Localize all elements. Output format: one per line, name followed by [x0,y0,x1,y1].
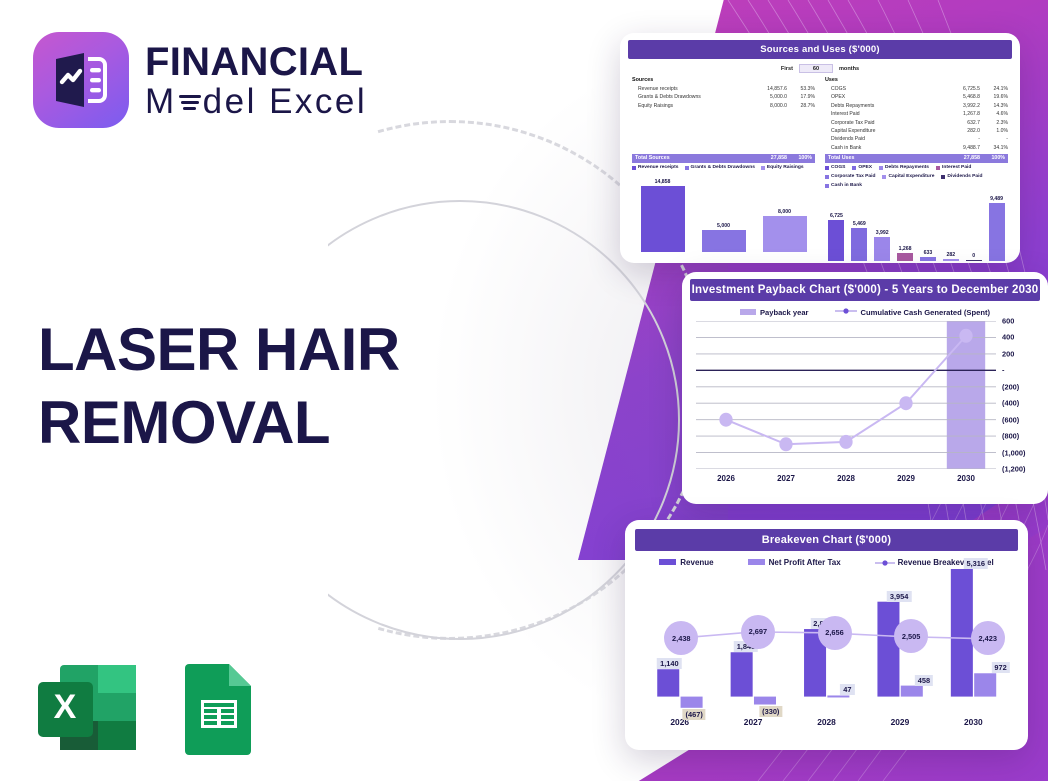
bar-rect [763,216,807,252]
uses-legend-label: Debts Repayments [885,165,929,170]
bar-item: 3,992 [874,191,890,261]
uses-row: Dividends Paid-- [825,135,1008,143]
microsoft-excel-icon[interactable]: X [33,660,143,755]
sources-legend-label: Equity Raisings [767,165,804,170]
payback-x-axis-labels: 20262027202820292030 [696,474,996,483]
bar-value-label: 6,725 [830,213,843,219]
uses-legend-swatch-icon [825,175,829,179]
revenue-value-tag: 5,316 [964,558,989,569]
breakeven-x-tick: 2027 [716,717,789,727]
npat-value-tag: (330) [759,706,782,717]
bar-value-label: 5,469 [853,221,866,227]
uses-legend-swatch-icon [879,166,883,170]
payback-x-tick: 2030 [936,474,996,483]
poster-canvas: FINANCIAL M del Excel LASER HAIR REMOVAL… [0,0,1048,781]
uses-legend-item: Cash in Bank [825,183,862,188]
payback-year-band [947,321,985,469]
sources-legend-label: Grants & Debts Drawdowns [691,165,755,170]
first-label: First [781,66,793,72]
breakeven-x-tick: 2030 [937,717,1010,727]
investment-payback-panel: Investment Payback Chart ($'000) - 5 Yea… [682,272,1048,504]
payback-line [726,336,966,445]
sources-row-value: 8,000.0 [747,102,787,110]
uses-row-label: Capital Expenditure [825,127,940,135]
bar-value-label: 3,992 [876,230,889,236]
brand-title: FINANCIAL [145,42,367,82]
app-icons-group: X [33,660,257,755]
sources-legend-item: Grants & Debts Drawdowns [685,165,755,170]
uses-row-label: Interest Paid [825,110,940,118]
uses-legend-item: Interest Paid [936,165,971,170]
breakeven-value-bubble: 2,697 [741,615,775,649]
uses-legend-label: Interest Paid [942,165,971,170]
uses-legend-label: COGS [831,165,845,170]
total-sources-pct: 100% [787,154,815,163]
uses-row-pct: 4.6% [980,110,1008,118]
sources-legend-swatch-icon [761,166,765,170]
bar-item: 633 [920,191,936,261]
brand-subtitle-post: del Excel [203,84,368,119]
payback-y-tick: (1,200) [1002,465,1025,474]
bar-rect [874,237,890,261]
uses-row-label: Cash in Bank [825,144,940,152]
total-uses-row: Total Uses 27,858 100% [825,154,1008,163]
sources-uses-table: Sources Revenue receipts14,857.653.3%Gra… [628,77,1012,163]
uses-row: Capital Expenditure282.01.0% [825,127,1008,135]
brand-subtitle: M del Excel [145,84,367,119]
uses-row-pct: 34.1% [980,144,1008,152]
payback-y-tick: 200 [1002,349,1014,358]
uses-header: Uses [825,77,1008,83]
revenue-bar [877,602,899,697]
bar-rect [920,257,936,261]
uses-row: Corporate Tax Paid632.72.3% [825,119,1008,127]
uses-row-value: 1,267.8 [940,110,980,118]
bar-rect [702,230,746,252]
brand-wordmark: FINANCIAL M del Excel [145,42,367,119]
breakeven-panel: Breakeven Chart ($'000) RevenueNet Profi… [625,520,1028,750]
page-title-line-2: REMOVAL [38,386,400,459]
sources-legend-item: Revenue receipts [632,165,679,170]
npat-value-tag: 972 [991,662,1009,673]
bar-value-label: 1,268 [899,246,912,252]
payback-chart-svg [696,321,996,469]
breakeven-value-bubble: 2,505 [894,619,928,653]
revenue-bar [731,652,753,696]
breakeven-legend-swatch-icon [659,559,676,565]
google-sheets-icon[interactable] [181,660,257,755]
months-label: months [839,66,859,72]
payback-plot-area: 600400200-(200)(400)(600)(800)(1,000)(1,… [696,321,996,469]
brand-lockup: FINANCIAL M del Excel [33,32,367,128]
sources-uses-charts: Revenue receiptsGrants & Debts Drawdowns… [628,163,1012,261]
bar-item: 6,725 [828,191,844,261]
payback-title: Investment Payback Chart ($'000) - 5 Yea… [690,279,1040,301]
payback-data-point [719,413,732,427]
sources-header: Sources [632,77,815,83]
uses-row: Debts Repayments3,992.214.3% [825,102,1008,110]
page-title: LASER HAIR REMOVAL [38,313,400,459]
sources-bars: 14,8585,0008,000 [632,174,815,252]
uses-legend: COGSOPEXDebts RepaymentsInterest PaidCor… [825,165,1008,188]
bar-rect [989,203,1005,261]
sources-row-value: 5,000.0 [747,93,787,101]
uses-row-value: 282.0 [940,127,980,135]
payback-y-tick: (600) [1002,415,1019,424]
uses-row: OPEX5,468.819.6% [825,93,1008,101]
uses-row-label: COGS [825,85,940,93]
bar-value-label: 14,858 [655,179,671,185]
logo-glyph-icon [50,49,112,111]
brand-subtitle-pre: M [145,84,177,119]
bar-value-label: 282 [946,252,955,258]
uses-bars: 6,7255,4693,9921,26863328209,489 [825,191,1008,261]
payback-x-tick: 2029 [876,474,936,483]
breakeven-x-tick: 2029 [863,717,936,727]
uses-row-value: 5,468.8 [940,93,980,101]
payback-y-tick: - [1002,366,1004,375]
legend-cumulative-cash: Cumulative Cash Generated (Spent) [835,307,991,317]
uses-row-pct: 1.0% [980,127,1008,135]
npat-bar [974,673,996,696]
revenue-bar [657,669,679,696]
sources-and-uses-panel: Sources and Uses ($'000) First 60 months… [620,33,1020,263]
revenue-bar [951,569,973,697]
svg-text:X: X [54,688,77,726]
payback-x-tick: 2028 [816,474,876,483]
uses-bar-chart: COGSOPEXDebts RepaymentsInterest PaidCor… [825,165,1008,261]
bar-item: 14,858 [641,174,685,252]
total-sources-row: Total Sources 27,858 100% [632,154,815,163]
uses-row-pct: 2.3% [980,119,1008,127]
payback-data-point [899,396,912,410]
uses-row-pct: 14.3% [980,102,1008,110]
npat-bar [754,697,776,705]
uses-legend-label: OPEX [858,165,872,170]
breakeven-line-marker-icon [875,558,898,567]
bar-value-label: 8,000 [778,209,791,215]
sources-column: Sources Revenue receipts14,857.653.3%Gra… [632,77,815,163]
payback-x-tick: 2026 [696,474,756,483]
bar-item: 0 [966,191,982,261]
bar-rect [641,186,685,252]
uses-legend-item: Dividends Paid [941,174,982,179]
uses-legend-swatch-icon [882,175,886,179]
npat-bar [827,695,849,697]
sources-row-label: Revenue receipts [632,85,747,93]
sources-row: Equity Raisings8,000.028.7% [632,102,815,110]
payback-year-swatch-icon [740,309,756,315]
uses-legend-swatch-icon [825,166,829,170]
sources-row-label: Grants & Debts Drawdowns [632,93,747,101]
npat-value-tag: (467) [683,709,706,720]
breakeven-value-bubble: 2,656 [818,616,852,650]
sources-row-label: Equity Raisings [632,102,747,110]
npat-bar [901,686,923,697]
uses-row-value: 6,725.5 [940,85,980,93]
bar-item: 8,000 [763,174,807,252]
payback-y-tick: (400) [1002,399,1019,408]
bar-value-label: 0 [972,253,975,259]
bar-rect [828,220,844,261]
cumulative-line-marker-icon [835,307,857,315]
uses-row-value: 632.7 [940,119,980,127]
breakeven-legend-swatch-icon [748,559,765,565]
uses-legend-swatch-icon [825,184,829,188]
uses-row-value: - [940,135,980,143]
breakeven-legend-item: Net Profit After Tax [748,558,841,567]
months-input[interactable]: 60 [799,64,833,73]
uses-legend-item: Capital Expenditure [882,174,934,179]
bar-item: 9,489 [989,191,1005,261]
uses-row: COGS6,725.524.1% [825,85,1008,93]
legend-payback-year: Payback year [740,308,809,317]
uses-row: Interest Paid1,267.84.6% [825,110,1008,118]
uses-legend-item: Debts Repayments [879,165,929,170]
sources-row: Grants & Debts Drawdowns5,000.017.9% [632,93,815,101]
revenue-value-tag: 3,954 [887,591,912,602]
bar-rect [897,253,913,261]
breakeven-value-bubble: 2,423 [971,621,1005,655]
npat-value-tag: 458 [915,675,933,686]
uses-row-value: 9,488.7 [940,144,980,152]
bar-rect [851,228,867,261]
sources-row-pct: 28.7% [787,102,815,110]
payback-y-tick: 600 [1002,317,1014,326]
uses-legend-label: Capital Expenditure [888,174,934,179]
uses-legend-label: Dividends Paid [947,174,982,179]
brand-logo-icon [33,32,129,128]
first-months-control: First 60 months [628,64,1012,73]
payback-y-tick: (800) [1002,432,1019,441]
sources-legend-label: Revenue receipts [638,165,679,170]
uses-row-label: Corporate Tax Paid [825,119,940,127]
uses-row-pct: 19.6% [980,93,1008,101]
payback-y-tick: 400 [1002,333,1014,342]
breakeven-title: Breakeven Chart ($'000) [635,529,1018,551]
uses-row-pct: 24.1% [980,85,1008,93]
sources-legend-item: Equity Raisings [761,165,804,170]
uses-column: Uses COGS6,725.524.1%OPEX5,468.819.6%Deb… [825,77,1008,163]
uses-legend-item: COGS [825,165,845,170]
breakeven-plot-area: 1,140(467)2,4381,848(330)2,6972,814472,6… [643,569,1010,711]
bar-rect [943,259,959,261]
bar-rect [966,260,982,261]
brand-o-glyph-icon [177,84,203,118]
breakeven-legend-label: Net Profit After Tax [769,558,841,567]
npat-bar [681,697,703,708]
payback-y-tick: (1,000) [1002,448,1025,457]
breakeven-legend-label: Revenue [680,558,713,567]
total-uses-pct: 100% [980,154,1008,163]
uses-row: Cash in Bank9,488.734.1% [825,144,1008,152]
bar-item: 282 [943,191,959,261]
uses-legend-swatch-icon [941,175,945,179]
sources-and-uses-title: Sources and Uses ($'000) [628,40,1012,59]
breakeven-value-bubble: 2,438 [664,621,698,655]
uses-legend-item: OPEX [852,165,872,170]
payback-data-point [839,435,852,449]
sources-row-pct: 17.9% [787,93,815,101]
payback-y-tick: (200) [1002,382,1019,391]
breakeven-legend: RevenueNet Profit After TaxRevenue Break… [635,558,1018,567]
total-uses-label: Total Uses [825,154,940,163]
uses-legend-label: Corporate Tax Paid [831,174,875,179]
sources-row-value: 14,857.6 [747,85,787,93]
sources-bar-chart: Revenue receiptsGrants & Debts Drawdowns… [632,165,815,261]
sources-row: Revenue receipts14,857.653.3% [632,85,815,93]
uses-row-label: OPEX [825,93,940,101]
npat-value-tag: 47 [840,684,854,695]
payback-legend: Payback year Cumulative Cash Generated (… [690,307,1040,317]
sources-legend: Revenue receiptsGrants & Debts Drawdowns… [632,165,815,170]
page-title-line-1: LASER HAIR [38,313,400,386]
bar-value-label: 9,489 [990,196,1003,202]
uses-row-label: Dividends Paid [825,135,940,143]
payback-data-point [779,437,792,451]
revenue-value-tag: 1,140 [657,658,682,669]
bar-item: 5,000 [702,174,746,252]
total-uses-value: 27,858 [940,154,980,163]
bar-value-label: 5,000 [717,223,730,229]
uses-row-value: 3,992.2 [940,102,980,110]
uses-row-label: Debts Repayments [825,102,940,110]
sources-legend-swatch-icon [685,166,689,170]
breakeven-legend-item: Revenue [659,558,713,567]
total-sources-value: 27,858 [747,154,787,163]
uses-legend-swatch-icon [936,166,940,170]
uses-legend-item: Corporate Tax Paid [825,174,875,179]
breakeven-x-tick: 2028 [790,717,863,727]
total-sources-label: Total Sources [632,154,747,163]
uses-legend-swatch-icon [852,166,856,170]
payback-y-axis-labels: 600400200-(200)(400)(600)(800)(1,000)(1,… [998,321,1038,469]
bar-item: 5,469 [851,191,867,261]
uses-legend-label: Cash in Bank [831,183,862,188]
uses-row-pct: - [980,135,1008,143]
payback-data-point [959,329,972,343]
bar-value-label: 633 [924,250,933,256]
payback-x-tick: 2027 [756,474,816,483]
sources-legend-swatch-icon [632,166,636,170]
bar-item: 1,268 [897,191,913,261]
sources-row-pct: 53.3% [787,85,815,93]
